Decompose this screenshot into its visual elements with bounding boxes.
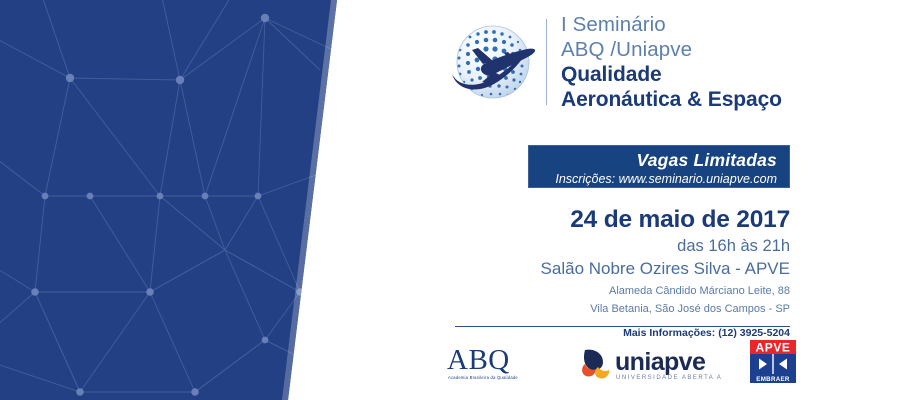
event-header-lockup: I Seminário ABQ /Uniapve Qualidade Aeron… [448, 12, 782, 112]
event-title-line-3: Qualidade [561, 62, 782, 87]
event-venue: Salão Nobre Ozires Silva - APVE [410, 257, 790, 280]
event-date: 24 de maio de 2017 [410, 205, 790, 235]
limited-seats-title: Vagas Limitadas [529, 150, 777, 171]
poster-canvas: I Seminário ABQ /Uniapve Qualidade Aeron… [0, 0, 900, 400]
event-title-line-4: Aeronáutica & Espaço [561, 87, 782, 112]
event-title-line-2: ABQ /Uniapve [561, 37, 782, 62]
event-details-block: 24 de maio de 2017 das 16h às 21h Salão … [410, 205, 790, 340]
sponsor-logo-row: ABQ Academia Brasileira da Qualidade uni… [445, 336, 800, 388]
globe-airplane-icon [448, 12, 540, 112]
svg-text:ABQ: ABQ [447, 344, 510, 376]
uniapve-logo: uniapve UNIVERSIDADE ABERTA APVE [579, 340, 721, 384]
network-pattern-graphic [0, 0, 350, 400]
svg-text:EMBRAER: EMBRAER [756, 376, 790, 383]
registration-url-text[interactable]: Inscrições: www.seminario.uniapve.com [529, 171, 777, 187]
event-time: das 16h às 21h [410, 236, 790, 257]
svg-text:APVE: APVE [755, 341, 790, 355]
abq-logo: ABQ Academia Brasileira da Qualidade [445, 338, 553, 386]
apve-embraer-logo: APVE EMBRAER [746, 338, 800, 386]
lockup-divider [546, 19, 547, 105]
content-area: I Seminário ABQ /Uniapve Qualidade Aeron… [350, 0, 900, 400]
event-title-line-1: I Seminário [561, 12, 782, 37]
svg-text:UNIVERSIDADE ABERTA APVE: UNIVERSIDADE ABERTA APVE [616, 375, 721, 381]
limited-seats-banner: Vagas Limitadas Inscrições: www.seminari… [528, 145, 790, 188]
event-title-block: I Seminário ABQ /Uniapve Qualidade Aeron… [561, 12, 782, 112]
decorative-left-panel [0, 0, 350, 400]
event-address-line-2: Vila Betania, São José dos Campos - SP [410, 302, 790, 316]
svg-text:uniapve: uniapve [615, 348, 706, 376]
event-address-line-1: Alameda Cândido Márciano Leite, 88 [410, 284, 790, 298]
svg-text:Academia Brasileira da Qualida: Academia Brasileira da Qualidade [448, 375, 518, 380]
footer-divider [455, 326, 790, 327]
